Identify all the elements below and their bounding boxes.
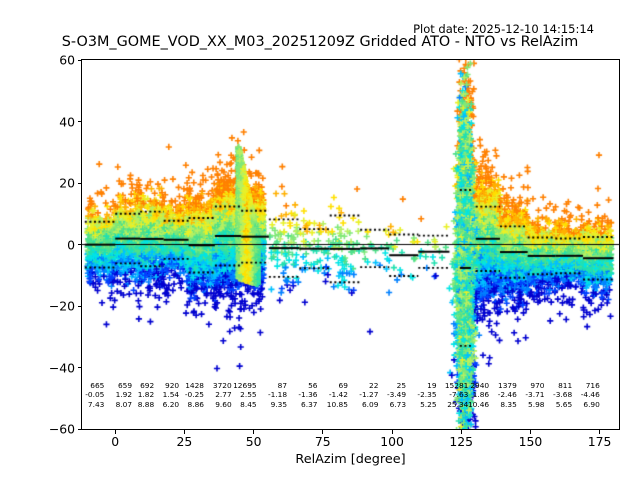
x-tick-label: 50 [246, 434, 262, 449]
y-tick-mark [78, 183, 82, 184]
x-tick-mark [392, 430, 393, 434]
y-tick-label: 60 [59, 53, 75, 68]
x-tick-mark [184, 430, 185, 434]
y-tick-mark [78, 306, 82, 307]
y-tick-mark [78, 367, 82, 368]
x-tick-mark [322, 430, 323, 434]
y-tick-label: 40 [59, 114, 75, 129]
x-tick-mark [530, 430, 531, 434]
figure: Plot date: 2025-12-10 14:15:14 S-O3M_GOM… [0, 0, 640, 480]
x-tick-mark [599, 430, 600, 434]
x-tick-mark [461, 430, 462, 434]
y-tick-mark [78, 121, 82, 122]
y-tick-mark [78, 429, 82, 430]
y-tick-label: −20 [49, 299, 75, 314]
y-tick-label: −40 [49, 360, 75, 375]
x-axis-label: RelAzim [degree] [81, 452, 620, 467]
y-tick-mark [78, 60, 82, 61]
y-tick-label: 20 [59, 176, 75, 191]
x-tick-label: 75 [315, 434, 331, 449]
x-tick-mark [115, 430, 116, 434]
x-tick-label: 0 [111, 434, 119, 449]
x-tick-mark [253, 430, 254, 434]
y-tick-label: 0 [67, 237, 75, 252]
x-tick-label: 25 [177, 434, 193, 449]
x-tick-label: 175 [588, 434, 612, 449]
axis-ticks: −60−40−2002040600255075100125150175 [0, 0, 640, 480]
x-tick-label: 125 [449, 434, 473, 449]
x-tick-label: 150 [519, 434, 543, 449]
y-tick-label: −60 [49, 422, 75, 437]
x-tick-label: 100 [380, 434, 404, 449]
y-tick-mark [78, 244, 82, 245]
